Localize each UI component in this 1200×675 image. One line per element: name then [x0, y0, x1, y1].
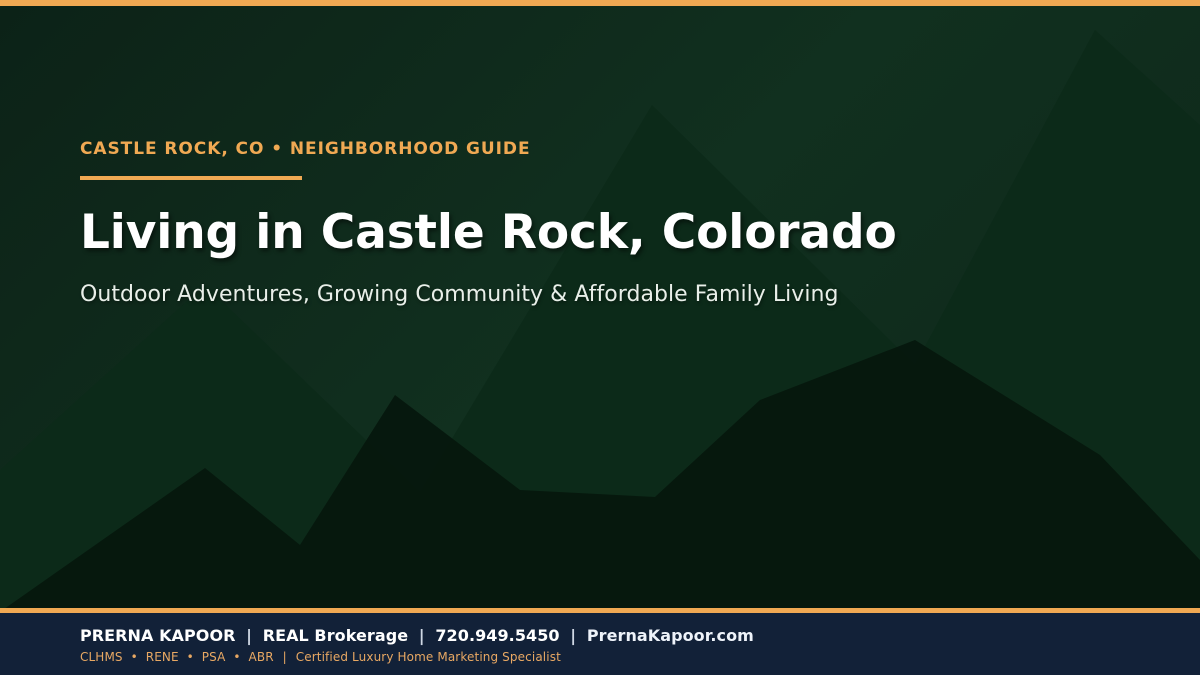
mountain-back-layer: [0, 30, 1200, 675]
mountain-range-graphic: [0, 0, 1200, 675]
footer-website[interactable]: PrernaKapoor.com: [587, 626, 754, 645]
top-accent-bar: [0, 0, 1200, 6]
credential-abr: ABR: [249, 650, 274, 664]
credential-designation: Certified Luxury Home Marketing Speciali…: [296, 650, 561, 664]
credential-dot-1: •: [127, 650, 142, 664]
page-title: Living in Castle Rock, Colorado: [80, 207, 1120, 260]
footer-separator-3: |: [565, 626, 581, 645]
credential-psa: PSA: [202, 650, 226, 664]
credential-dot-2: •: [183, 650, 198, 664]
footer-credentials-line: CLHMS • RENE • PSA • ABR | Certified Lux…: [80, 650, 1200, 666]
footer-brokerage: REAL Brokerage: [263, 626, 408, 645]
hero-content: CASTLE ROCK, CO • NEIGHBORHOOD GUIDE Liv…: [80, 140, 1120, 310]
eyebrow-underline-rule: [80, 176, 302, 180]
footer-inner: PRERNA KAPOOR | REAL Brokerage | 720.949…: [0, 613, 1200, 666]
page-subtitle: Outdoor Adventures, Growing Community & …: [80, 281, 1120, 310]
eyebrow-label: CASTLE ROCK, CO • NEIGHBORHOOD GUIDE: [80, 140, 1120, 159]
credential-clhms: CLHMS: [80, 650, 123, 664]
footer-separator-2: |: [414, 626, 430, 645]
credential-separator-bar: |: [278, 650, 292, 664]
footer-contact-line: PRERNA KAPOOR | REAL Brokerage | 720.949…: [80, 626, 1200, 646]
footer-phone[interactable]: 720.949.5450: [435, 626, 559, 645]
footer-bar: PRERNA KAPOOR | REAL Brokerage | 720.949…: [0, 608, 1200, 675]
credential-rene: RENE: [146, 650, 179, 664]
footer-separator-1: |: [241, 626, 257, 645]
footer-agent-name: PRERNA KAPOOR: [80, 626, 236, 645]
credential-dot-3: •: [229, 650, 244, 664]
title-slide: CASTLE ROCK, CO • NEIGHBORHOOD GUIDE Liv…: [0, 0, 1200, 675]
